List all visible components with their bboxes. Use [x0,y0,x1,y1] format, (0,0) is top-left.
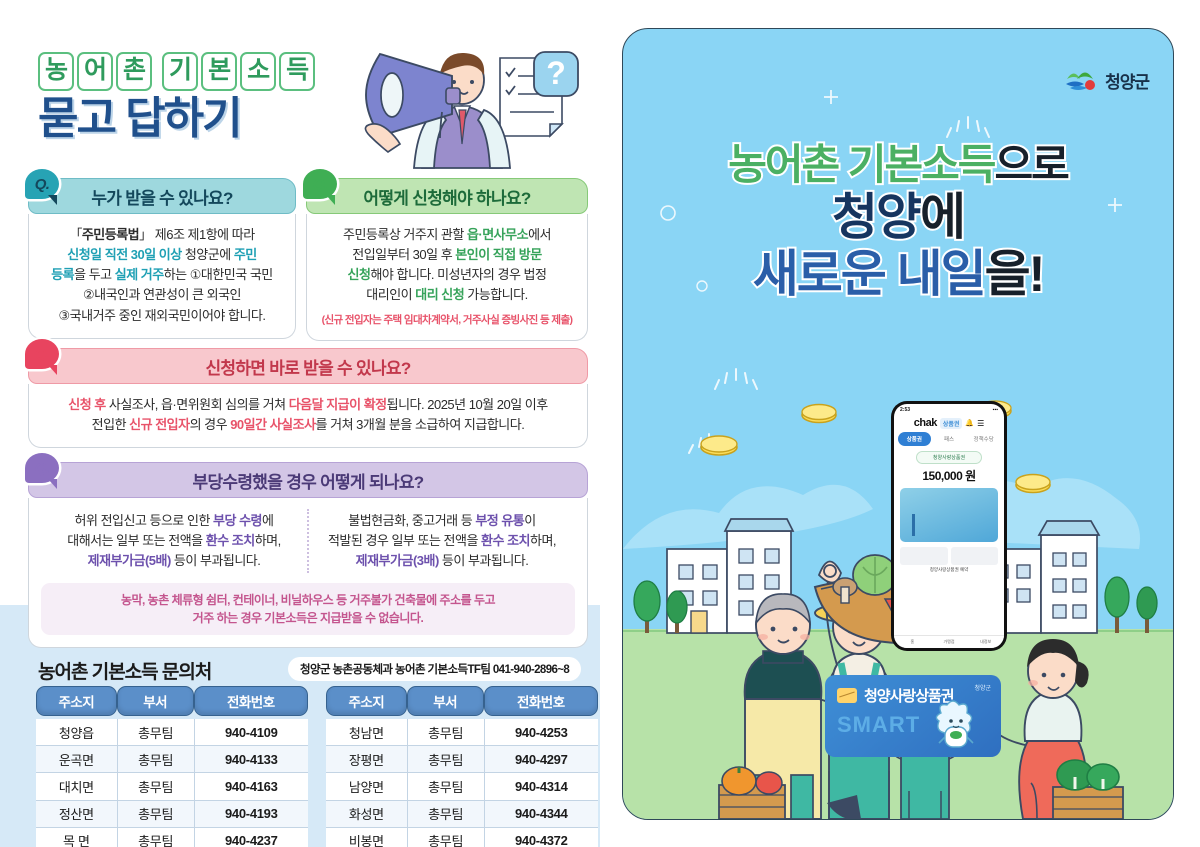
cell-phone: 940-4193 [194,801,308,828]
warning-line: 농막, 농촌 체류형 쉼터, 컨테이너, 비닐하우스 등 거주불가 건축물에 주… [51,591,565,609]
warning-line: 거주 하는 경우 기본소득은 지급받을 수 없습니다. [51,609,565,627]
qa-line: ③국내거주 중인 재외국민이어야 합니다. [41,306,283,326]
cell-phone: 940-4344 [484,801,598,828]
cell-region: 남양면 [326,773,407,800]
qa-header: Q. 누가 받을 수 있나요? [28,178,296,214]
table-header-cell: 부서 [407,686,484,716]
table-row: 대치면 총무팀 940-4163 [36,773,308,800]
qa-warning-box: 농막, 농촌 체류형 쉼터, 컨테이너, 비닐하우스 등 거주불가 건축물에 주… [41,583,575,635]
qa-body: 주민등록상 거주지 관할 읍·면사무소에서 전입일부터 30일 후 본인이 직접… [306,214,588,341]
cell-dept: 총무팀 [407,719,484,746]
status-icons: ▪▪▪ [993,407,998,413]
qa-question: 어떻게 신청해야 하나요? [363,184,530,209]
cell-region: 대치면 [36,773,117,800]
cell-dept: 총무팀 [117,801,194,828]
nav-myinfo[interactable]: 내정보 [967,636,1004,648]
qa-column-left: 허위 전입신고 등으로 인한 부당 수령에 대해서는 일부 또는 전액을 환수 … [41,509,307,573]
cell-region: 목 면 [36,828,117,847]
qa-line: 적발된 경우 일부 또는 전액을 환수 조치하며, [317,531,567,551]
table-row: 장평면 총무팀 940-4297 [326,746,598,773]
contact-phone-pill: 청양군 농촌공동체과 농어촌 기본소득TF팀 041-940-2896~8 [288,657,581,681]
qa-card-eligibility[interactable]: Q. 누가 받을 수 있나요? 「주민등록법」 제6조 제1항에 따라 신청일 … [28,178,296,339]
cell-dept: 총무팀 [407,801,484,828]
shortcut-stores[interactable] [951,547,999,565]
headline-line-2: 청양에 [623,190,1173,245]
qa-line: 제재부가금(3배) 등이 부과됩니다. [317,551,567,571]
qa-card-how-to-apply[interactable]: Q. 어떻게 신청해야 하나요? 주민등록상 거주지 관할 읍·면사무소에서 전… [306,178,588,341]
table-row: 비봉면 총무팀 940-4372 [326,828,598,847]
qa-line: 전입일부터 30일 후 본인이 직접 방문 [319,245,575,265]
q-badge: Q. [303,169,337,199]
qa-line: 대리인이 대리 신청 가능합니다. [319,285,575,305]
qa-header: Q. 신청하면 바로 받을 수 있나요? [28,348,588,384]
table-row: 청양읍 총무팀 940-4109 [36,719,308,746]
cell-phone: 940-4314 [484,773,598,800]
title-chip: 어 [77,52,113,91]
cell-phone: 940-4237 [194,828,308,847]
title-chip: 본 [201,52,237,91]
poster-page: 농 어 촌 기 본 소 득 묻고 답하기 [0,0,1200,847]
cheongyang-love-giftcard: 청양군 청양사랑상품권 SMART [825,675,1001,757]
qa-line: 신청해야 합니다. 미성년자의 경우 법정 [319,265,575,285]
nav-stores[interactable]: 가맹점 [931,636,968,648]
cell-phone: 940-4133 [194,746,308,773]
cell-phone: 940-4109 [194,719,308,746]
qa-line: 대해서는 일부 또는 전액을 환수 조치하며, [49,531,299,551]
tab-policy-allowance[interactable]: 정책수당 [967,432,1000,446]
cell-dept: 총무팀 [117,773,194,800]
app-tag: 상품권 [940,418,963,429]
qa-question: 부당수령했을 경우 어떻게 되나요? [193,468,424,493]
tab-giftcard[interactable]: 상품권 [898,432,931,446]
qa-header: Q. 어떻게 신청해야 하나요? [306,178,588,214]
cheongyang-logo: 청양군 [1065,67,1149,93]
headline: 농어촌 기본소득으로 청양에 새로운 내일을! [623,141,1173,302]
cell-phone: 940-4297 [484,746,598,773]
qa-question: 누가 받을 수 있나요? [91,184,232,209]
title-subline: 묻고 답하기 [38,97,315,141]
vegetable-crate-left [719,767,785,819]
left-panel: 농 어 촌 기 본 소 득 묻고 답하기 [0,0,612,847]
cell-dept: 총무팀 [117,828,194,847]
balance-amount: 150,000 원 [894,467,1004,484]
contact-table-left: 주소지 부서 전화번호 청양읍 총무팀 940-4109 운곡면 총무팀 [36,686,308,847]
hero-illustration: ? [362,18,594,170]
qa-line: 전입한 신규 전입자의 경우 90일간 사실조사를 거쳐 3개월 분을 소급하여… [41,415,575,435]
cell-region: 장평면 [326,746,407,773]
title-chips: 농 어 촌 기 본 소 득 [38,52,315,91]
tab-pass[interactable]: 패스 [933,432,966,446]
app-tabs: 상품권 패스 정책수당 [894,432,1004,446]
hamburger-icon[interactable]: ☰ [977,419,984,428]
table-header-cell: 전화번호 [484,686,598,716]
qa-line: 신청 후 사실조사, 읍·면위원회 심의를 거쳐 다음달 지급이 확정됩니다. … [41,395,575,415]
headline-part-navy: 청양 [832,189,920,245]
cell-phone: 940-4253 [484,719,598,746]
table-header-cell: 주소지 [36,686,117,716]
qa-line: ②내국인과 연관성이 큰 외국인 [41,285,283,305]
title-chip: 농 [38,52,74,91]
nav-home[interactable]: 홈 [894,636,931,648]
qa-line: 허위 전입신고 등으로 인한 부당 수령에 [49,511,299,531]
mountain-wave-icon [1065,67,1099,93]
cell-dept: 총무팀 [407,828,484,847]
q-badge: Q. [25,339,59,369]
cell-region: 청양읍 [36,719,117,746]
qa-body: 「주민등록법」 제6조 제1항에 따라 신청일 직전 30일 이상 청양군에 주… [28,214,296,339]
contact-tables: 주소지 부서 전화번호 청양읍 총무팀 940-4109 운곡면 총무팀 [36,686,598,847]
headline-part-dark: 을! [985,246,1044,302]
qa-line: 「주민등록법」 제6조 제1항에 따라 [41,225,283,245]
page-title: 농 어 촌 기 본 소 득 묻고 답하기 [38,52,315,141]
table-header-cell: 부서 [117,686,194,716]
cell-dept: 총무팀 [117,746,194,773]
qa-line: 신청일 직전 30일 이상 청양군에 주민 [41,245,283,265]
headline-part-green: 농어촌 기본소득 [728,141,994,188]
sunburst-deco-icon [941,107,995,141]
qa-two-columns: 허위 전입신고 등으로 인한 부당 수령에 대해서는 일부 또는 전액을 환수 … [41,509,575,573]
cell-region: 운곡면 [36,746,117,773]
qa-card-fraud-penalty[interactable]: Q. 부당수령했을 경우 어떻게 되나요? 허위 전입신고 등으로 인한 부당 … [28,462,588,648]
app-brand: chak 상품권 🔔 ☰ [894,413,1004,432]
cell-region: 비봉면 [326,828,407,847]
illustration-scene: 2:53 ▪▪▪ chak 상품권 🔔 ☰ 상품권 패스 정책수당 청양사랑 [623,399,1173,819]
headline-line-3: 새로운 내일을! [623,247,1173,302]
bell-icon[interactable]: 🔔 [965,419,974,427]
title-chip: 촌 [116,52,152,91]
qa-body: 신청 후 사실조사, 읍·면위원회 심의를 거쳐 다음달 지급이 확정됩니다. … [28,384,588,448]
q-badge: Q. [25,169,59,199]
qa-line: 등록을 두고 실제 거주하는 ①대한민국 국민 [41,265,283,285]
qa-card-payment-timing[interactable]: Q. 신청하면 바로 받을 수 있나요? 신청 후 사실조사, 읍·면위원회 심… [28,348,588,448]
cell-dept: 총무팀 [117,719,194,746]
phone-bottom-nav: 홈 가맹점 내정보 [894,635,1004,648]
title-chip: 소 [240,52,276,91]
smartphone-mockup[interactable]: 2:53 ▪▪▪ chak 상품권 🔔 ☰ 상품권 패스 정책수당 청양사랑 [891,401,1007,651]
q-badge: Q. [25,453,59,483]
card-caption: 청양사랑상품권 예약 [894,567,1004,573]
headline-part-blue: 새로운 내일 [753,246,985,302]
shortcut-buy[interactable] [900,547,948,565]
qa-line: 제재부가금(5배) 등이 부과됩니다. [49,551,299,571]
qa-line: 불법현금화, 중고거래 등 부정 유통이 [317,511,567,531]
title-chip: 기 [162,52,198,91]
cell-dept: 총무팀 [407,746,484,773]
title-chip: 득 [279,52,315,91]
cell-region: 정산면 [36,801,117,828]
card-chip-icon [837,688,857,703]
svg-text:?: ? [546,55,566,91]
vegetable-crate-right [1053,760,1123,819]
contact-table-right: 주소지 부서 전화번호 청남면 총무팀 940-4253 장평면 총무팀 [326,686,598,847]
contact-title: 농어촌 기본소득 문의처 [38,657,211,684]
cell-dept: 총무팀 [407,773,484,800]
headline-part-dark: 에 [920,189,964,245]
bridge-graphic [912,514,915,536]
table-row: 남양면 총무팀 940-4314 [326,773,598,800]
table-row: 청남면 총무팀 940-4253 [326,719,598,746]
cell-region: 화성면 [326,801,407,828]
cell-region: 청남면 [326,719,407,746]
qa-header: Q. 부당수령했을 경우 어떻게 되나요? [28,462,588,498]
question-mark-icon: ? [534,52,578,96]
qa-note: (신규 전입자는 주택 임대차계약서, 거주사실 증빙사진 등 제출) [319,312,575,328]
cell-phone: 940-4372 [484,828,598,847]
card-logo-text: 청양군 [974,683,991,692]
table-header-cell: 주소지 [326,686,407,716]
headline-part-dark: 으로 [994,141,1067,188]
giftcard-chip: 청양사랑상품권 [916,451,982,464]
logo-text: 청양군 [1105,68,1149,93]
table-row: 목 면 총무팀 940-4237 [36,828,308,847]
app-name: chak [914,417,937,429]
banner-image[interactable] [900,488,998,542]
qa-body: 허위 전입신고 등으로 인한 부당 수령에 대해서는 일부 또는 전액을 환수 … [28,498,588,648]
sunburst-deco-icon [709,359,763,393]
mascot-icon [933,699,979,753]
right-panel-poster: 청양군 농어촌 기본소득으로 청양에 [622,28,1174,820]
plus-deco-icon [823,89,839,105]
qa-column-right: 불법현금화, 중고거래 등 부정 유통이 적발된 경우 일부 또는 전액을 환수… [309,509,575,573]
table-row: 운곡면 총무팀 940-4133 [36,746,308,773]
qa-question: 신청하면 바로 받을 수 있나요? [205,354,410,379]
phone-screen: 2:53 ▪▪▪ chak 상품권 🔔 ☰ 상품권 패스 정책수당 청양사랑 [894,404,1004,648]
phone-status-bar: 2:53 ▪▪▪ [894,404,1004,413]
table-row: 정산면 총무팀 940-4193 [36,801,308,828]
table-header-cell: 전화번호 [194,686,308,716]
cell-phone: 940-4163 [194,773,308,800]
status-time: 2:53 [900,407,910,413]
table-row: 화성면 총무팀 940-4344 [326,801,598,828]
app-shortcut-grid [894,542,1004,565]
headline-line-1: 농어촌 기본소득으로 [623,141,1173,188]
qa-line: 주민등록상 거주지 관할 읍·면사무소에서 [319,225,575,245]
